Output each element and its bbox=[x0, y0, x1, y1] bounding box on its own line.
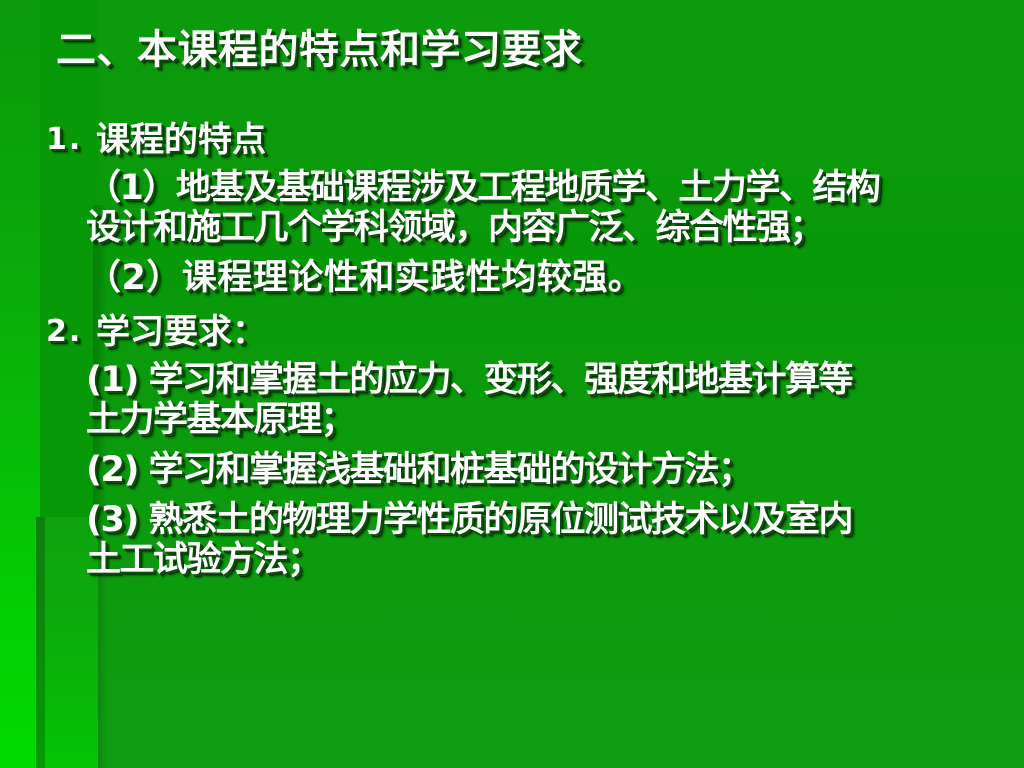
section-2-heading-row: 2. 学习要求： bbox=[0, 310, 1024, 354]
section-2: 2. 学习要求： (1) 学习和掌握土的应力、变形、强度和地基计算等 土力学基本… bbox=[0, 310, 1024, 580]
section-1: 1. 课程的特点 （1）地基及基础课程涉及工程地质学、土力学、结构 设计和施工几… bbox=[0, 118, 1024, 298]
section-1-heading-row: 1. 课程的特点 bbox=[0, 118, 1024, 162]
slide-title: 二、本课程的特点和学习要求 bbox=[56, 30, 583, 70]
section-2-line-5: 土工试验方法； bbox=[86, 540, 1024, 580]
section-2-heading: 学习要求： bbox=[96, 310, 266, 354]
slide-body: 1. 课程的特点 （1）地基及基础课程涉及工程地质学、土力学、结构 设计和施工几… bbox=[0, 118, 1024, 580]
section-1-line-2: 设计和施工几个学科领域，内容广泛、综合性强； bbox=[86, 208, 1024, 248]
spacer bbox=[0, 298, 1024, 310]
spacer bbox=[0, 248, 1024, 258]
section-2-line-1: (1) 学习和掌握土的应力、变形、强度和地基计算等 bbox=[86, 360, 1024, 400]
section-2-line-2: 土力学基本原理； bbox=[86, 400, 1024, 440]
section-1-heading: 课程的特点 bbox=[96, 118, 266, 162]
section-2-line-4: (3) 熟悉土的物理力学性质的原位测试技术以及室内 bbox=[86, 500, 1024, 540]
spacer bbox=[0, 490, 1024, 500]
section-2-number: 2. bbox=[46, 310, 82, 354]
section-1-line-1: （1）地基及基础课程涉及工程地质学、土力学、结构 bbox=[86, 168, 1024, 208]
spacer bbox=[0, 440, 1024, 450]
section-2-line-3: (2) 学习和掌握浅基础和桩基础的设计方法； bbox=[86, 450, 1024, 490]
section-1-line-3: （2）课程理论性和实践性均较强。 bbox=[86, 258, 1024, 298]
section-1-number: 1. bbox=[46, 118, 82, 162]
slide-canvas: 二、本课程的特点和学习要求 1. 课程的特点 （1）地基及基础课程涉及工程地质学… bbox=[0, 0, 1024, 768]
